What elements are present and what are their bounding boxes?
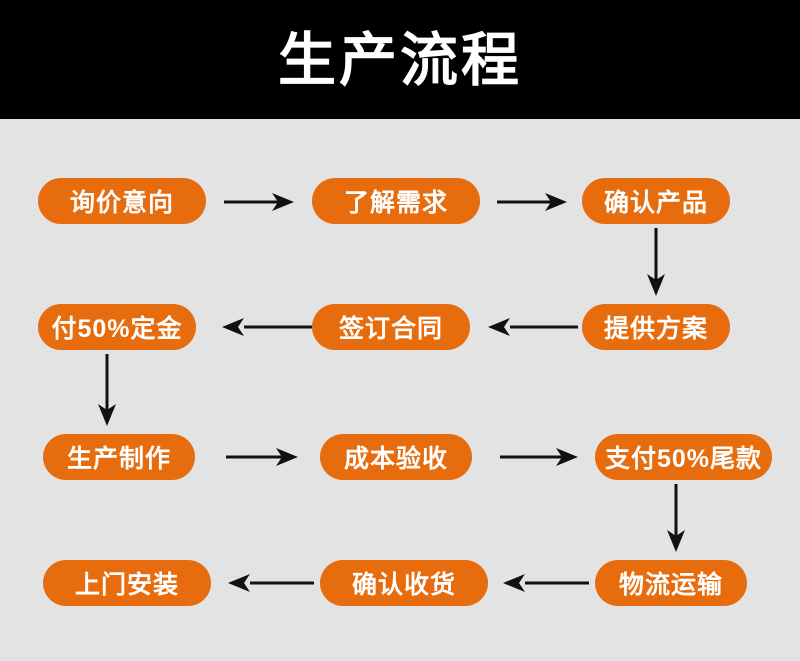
flow-node-label: 了解需求	[344, 183, 448, 219]
flow-node-label: 确认产品	[604, 183, 708, 219]
connector-arrow-down-1	[646, 228, 666, 296]
page-title: 生产流程	[278, 32, 522, 90]
connector-arrow-left-4	[228, 573, 314, 593]
connector-arrow-right-2	[497, 192, 567, 212]
flow-node-pay-50-deposit[interactable]: 付50%定金	[38, 304, 196, 350]
flow-node-pay-50-balance[interactable]: 支付50%尾款	[595, 434, 772, 480]
flow-node-cost-acceptance[interactable]: 成本验收	[320, 434, 472, 480]
flow-node-provide-solution[interactable]: 提供方案	[582, 304, 730, 350]
flow-node-label: 确认收货	[352, 565, 456, 601]
flow-node-label: 上门安装	[75, 565, 179, 601]
flow-node-label: 询价意向	[70, 183, 174, 219]
header-banner: 生产流程	[0, 0, 800, 119]
flow-node-sign-contract[interactable]: 签订合同	[312, 304, 470, 350]
flow-node-inquiry-intent[interactable]: 询价意向	[38, 178, 206, 224]
flow-node-understand-requirements[interactable]: 了解需求	[312, 178, 480, 224]
flow-node-label: 物流运输	[619, 565, 723, 601]
connector-arrow-down-3	[666, 484, 686, 552]
flow-node-label: 签订合同	[339, 309, 443, 345]
flow-node-label: 支付50%尾款	[605, 439, 762, 475]
flow-node-confirm-receipt[interactable]: 确认收货	[320, 560, 488, 606]
connector-arrow-right-1	[224, 192, 294, 212]
flow-node-onsite-installation[interactable]: 上门安装	[43, 560, 211, 606]
connector-arrow-down-2	[97, 354, 117, 426]
flow-node-label: 付50%定金	[51, 309, 182, 345]
connector-arrow-left-3	[503, 573, 589, 593]
flow-node-logistics-transport[interactable]: 物流运输	[595, 560, 747, 606]
flow-node-confirm-product[interactable]: 确认产品	[582, 178, 730, 224]
flow-node-label: 生产制作	[67, 439, 171, 475]
flowchart-canvas: 询价意向 了解需求 确认产品	[0, 119, 800, 661]
flow-node-production-manufacturing[interactable]: 生产制作	[43, 434, 195, 480]
flow-node-label: 成本验收	[344, 439, 448, 475]
connector-arrow-left-2	[222, 317, 312, 337]
production-process-infographic: 生产流程 询价意向 了解需求 确认产品	[0, 0, 800, 661]
connector-arrow-right-3	[226, 447, 298, 467]
connector-arrow-left-1	[488, 317, 578, 337]
connector-arrow-right-4	[500, 447, 578, 467]
flow-node-label: 提供方案	[604, 309, 708, 345]
